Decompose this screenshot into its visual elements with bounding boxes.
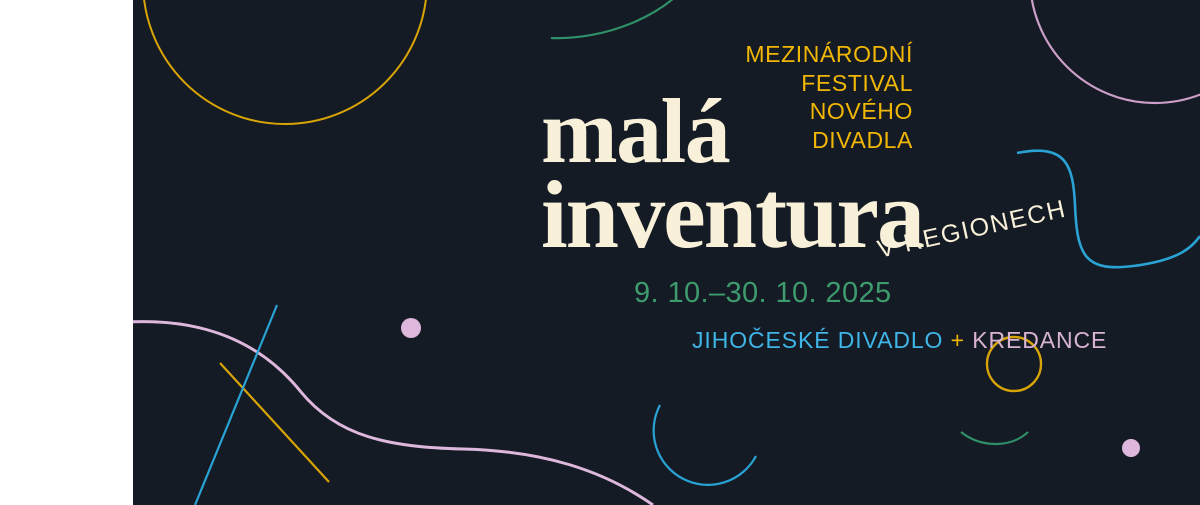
partner-separator: + (951, 327, 965, 353)
wordmark-line-1: malá (541, 92, 923, 170)
festival-poster: MEZINÁRODNÍ FESTIVAL NOVÉHO DIVADLA malá… (0, 0, 1200, 505)
cyan-arc-bottom-center (654, 405, 756, 485)
yellow-circle-outline-top-left (143, 0, 427, 124)
eyebrow-line-1: MEZINÁRODNÍ (593, 40, 913, 69)
wordmark-line-2: inventura (541, 176, 923, 254)
festival-wordmark: malá inventura (541, 92, 923, 254)
partner-kredance: KREDANCE (972, 327, 1107, 353)
pink-wave-bottom-left (133, 322, 653, 505)
poster-dark-panel: MEZINÁRODNÍ FESTIVAL NOVÉHO DIVADLA malá… (133, 0, 1200, 505)
pink-circle-outline-top-right (1030, 0, 1200, 103)
pink-dot-center-left (401, 318, 421, 338)
yellow-diagonal-line (220, 363, 329, 482)
green-arc-bottom-right (961, 432, 1028, 444)
partner-jihoceske-divadlo: JIHOČESKÉ DIVADLO (692, 327, 943, 353)
green-curve-top-center (551, 0, 693, 38)
pink-dot-bottom-right (1122, 439, 1140, 457)
partners-line: JIHOČESKÉ DIVADLO + KREDANCE (692, 327, 1107, 354)
cyan-diagonal-line (195, 305, 277, 505)
festival-dates: 9. 10.–30. 10. 2025 (634, 277, 892, 310)
